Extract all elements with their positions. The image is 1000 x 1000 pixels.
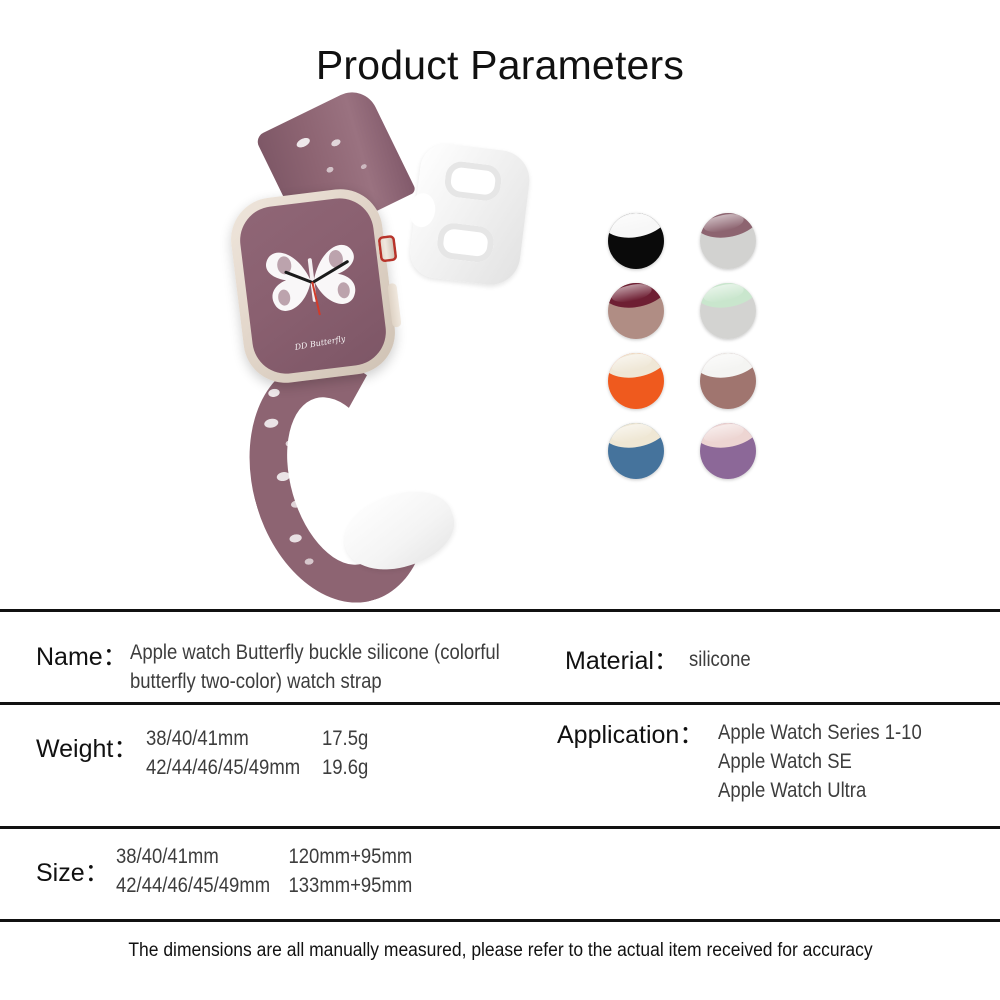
spec-row-size: Size： 38/40/41mm 120mm+95mm 42/44/46/45/… [36,845,452,901]
buckle-hole [443,160,503,203]
name-line-2: butterfly two-color) watch strap [130,668,500,697]
color-swatch-mauve-gray[interactable] [700,213,756,269]
spec-row-name: Name： Apple watch Butterfly buckle silic… [36,637,550,697]
size-model: 42/44/46/45/49mm [116,872,288,901]
application-item: Apple Watch Ultra [718,777,922,806]
spec-row-weight: Weight： 38/40/41mm 17.5g 42/44/46/45/49m… [36,721,399,783]
spec-value-name: Apple watch Butterfly buckle silicone (c… [130,639,500,697]
spec-label-weight: Weight： [36,729,138,765]
application-item: Apple Watch SE [718,748,922,777]
divider-name-weight [0,702,1000,705]
color-swatch-cream-blue[interactable] [608,423,664,479]
color-swatch-pink-purple[interactable] [700,423,756,479]
weight-row: 42/44/46/45/49mm 19.6g [146,754,368,783]
watch-case: DD Butterfly [226,184,400,387]
footer-note: The dimensions are all manually measured… [0,940,1000,962]
size-model: 38/40/41mm [116,843,288,872]
spec-label-name: Name： [36,637,128,673]
strap-lower [222,338,456,624]
color-swatch-wine-rose[interactable] [608,283,664,339]
footer-note-text: The dimensions are all manually measured… [128,940,872,962]
spec-value-application: Apple Watch Series 1-10 Apple Watch SE A… [718,719,922,806]
digital-crown [377,235,397,263]
buckle-waist [407,192,437,229]
spec-row-application: Application： Apple Watch Series 1-10 App… [557,715,950,806]
color-swatch-cream-orange[interactable] [608,353,664,409]
buckle-hole [436,221,496,264]
name-line-1: Apple watch Butterfly buckle silicone (c… [130,639,500,668]
butterfly-watchface-icon [256,234,369,324]
weight-row: 38/40/41mm 17.5g [146,725,368,754]
spec-value-material: silicone [689,646,751,675]
divider-footer [0,919,1000,922]
weight-value: 17.5g [322,725,368,754]
spec-value-size: 38/40/41mm 120mm+95mm 42/44/46/45/49mm 1… [116,843,412,901]
size-row: 38/40/41mm 120mm+95mm [116,843,412,872]
product-hero: DD Butterfly [0,110,1000,610]
butterfly-buckle [407,141,533,288]
color-swatch-white-rosybrown[interactable] [700,353,756,409]
weight-size: 42/44/46/45/49mm [146,754,322,783]
size-row: 42/44/46/45/49mm 133mm+95mm [116,872,412,901]
color-swatch-white-black[interactable] [608,213,664,269]
color-swatch-grid [608,213,788,493]
divider-weight-size [0,826,1000,829]
spec-label-material: Material： [565,641,679,677]
application-item: Apple Watch Series 1-10 [718,719,922,748]
size-value: 120mm+95mm [288,843,412,872]
weight-value: 19.6g [322,754,368,783]
spec-label-size: Size： [36,853,110,889]
weight-size: 38/40/41mm [146,725,322,754]
watch-product-image: DD Butterfly [225,125,555,605]
spec-label-application: Application： [557,715,704,751]
spec-value-weight: 38/40/41mm 17.5g 42/44/46/45/49mm 19.6g [146,725,368,783]
watch-screen: DD Butterfly [236,194,389,377]
side-button [387,283,401,328]
spec-row-material: Material： silicone [565,641,759,677]
watchface-brand-text: DD Butterfly [294,334,346,352]
divider-top [0,609,1000,612]
size-value: 133mm+95mm [288,872,412,901]
page-title: Product Parameters [0,42,1000,89]
color-swatch-mint-gray[interactable] [700,283,756,339]
